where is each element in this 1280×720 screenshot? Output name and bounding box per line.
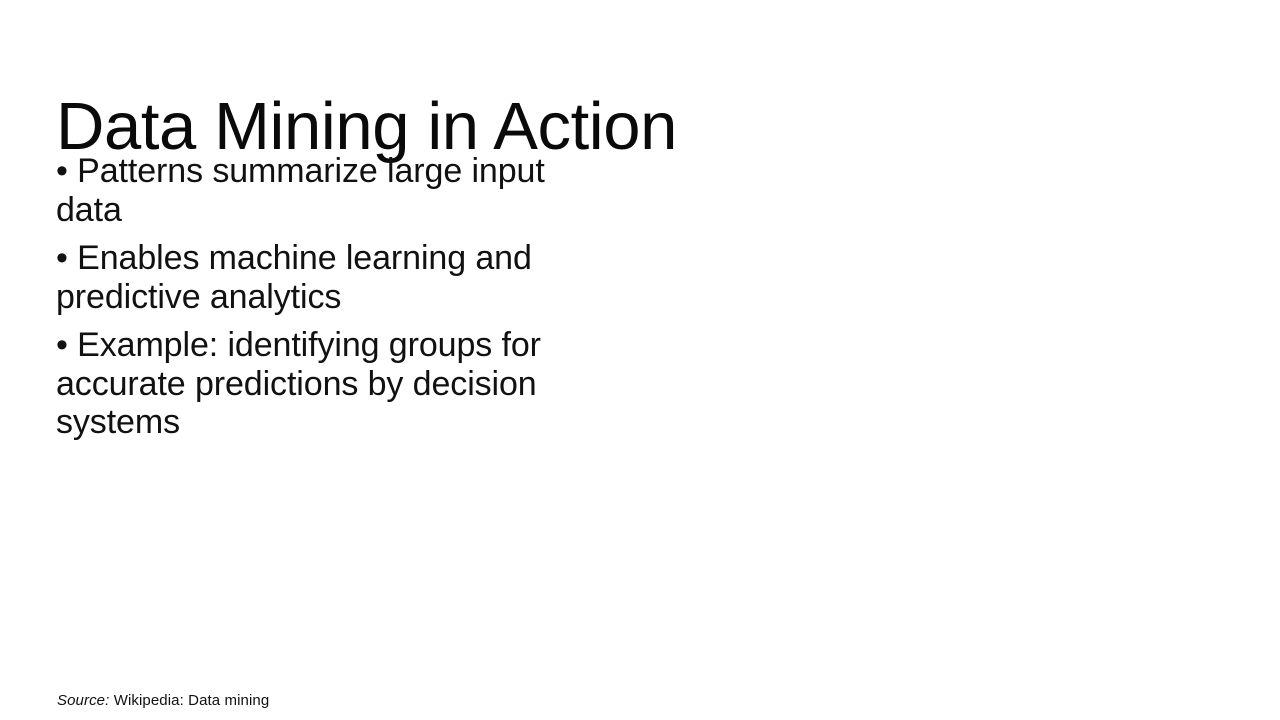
source-value: Wikipedia: Data mining bbox=[114, 692, 270, 709]
list-item-label: Enables machine learning and predictive … bbox=[56, 239, 532, 316]
list-item-label: Patterns summarize large input data bbox=[56, 152, 545, 229]
bullet-dot-icon: • bbox=[56, 326, 68, 364]
bullet-list: • Patterns summarize large input data • … bbox=[56, 152, 572, 442]
bullet-dot-icon: • bbox=[56, 239, 68, 277]
slide-canvas: Data Mining in Action • Patterns summari… bbox=[0, 0, 1280, 720]
list-item: • Enables machine learning and predictiv… bbox=[56, 239, 572, 316]
page-title: Data Mining in Action bbox=[56, 93, 876, 161]
list-item: • Patterns summarize large input data bbox=[56, 152, 572, 229]
source-citation: Source: Wikipedia: Data mining bbox=[57, 691, 269, 711]
list-item-label: Example: identifying groups for accurate… bbox=[56, 326, 541, 441]
list-item: • Example: identifying groups for accura… bbox=[56, 326, 572, 442]
bullet-dot-icon: • bbox=[56, 152, 68, 190]
source-label: Source: bbox=[57, 692, 109, 709]
